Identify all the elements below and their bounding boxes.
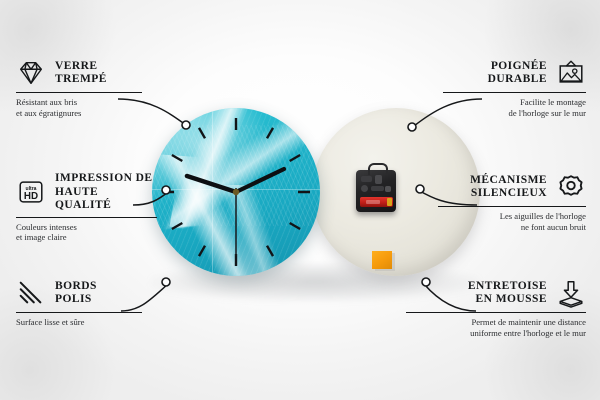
aa-battery	[360, 197, 393, 207]
feature-header: BORDS POLIS	[16, 278, 142, 308]
quartz-movement	[356, 170, 396, 212]
feature-subtitle: Facilite le montage de l'horloge sur le …	[443, 97, 586, 118]
feature-mecanisme-silencieux[interactable]: MÉCANISME SILENCIEUX Les aiguilles de l'…	[438, 172, 586, 232]
feature-subtitle: Résistant aux bris et aux égratignures	[16, 97, 142, 118]
hour-hand	[187, 176, 236, 192]
feature-rule	[406, 312, 586, 313]
feature-rule	[438, 206, 586, 207]
feature-impression-haute-qualite[interactable]: ultra HD IMPRESSION DE HAUTE QUALITÉ Cou…	[16, 172, 157, 243]
movement-detail	[361, 185, 368, 192]
feature-title: MÉCANISME SILENCIEUX	[438, 174, 547, 201]
foam-spacer-icon	[556, 278, 586, 308]
feature-header: ENTRETOISE EN MOUSSE	[406, 278, 586, 308]
movement-detail	[371, 186, 384, 191]
feature-verre-trempe[interactable]: VERRE TREMPÉ Résistant aux bris et aux é…	[16, 58, 142, 118]
movement-detail	[375, 175, 382, 184]
hands-hub	[233, 189, 239, 195]
feature-entretoise-en-mousse[interactable]: ENTRETOISE EN MOUSSE Permet de maintenir…	[406, 278, 586, 338]
foam-spacer	[372, 251, 392, 269]
battery-band	[366, 200, 380, 204]
feature-poignee-durable[interactable]: POIGNÉE DURABLE Facilite le montage de l…	[443, 58, 586, 118]
feature-header: MÉCANISME SILENCIEUX	[438, 172, 586, 202]
battery-terminal	[387, 198, 392, 206]
feature-title: POIGNÉE DURABLE	[443, 60, 547, 87]
infographic-canvas: VERRE TREMPÉ Résistant aux bris et aux é…	[0, 0, 600, 400]
feature-rule	[16, 92, 142, 93]
feature-header: POIGNÉE DURABLE	[443, 58, 586, 88]
feature-subtitle: Couleurs intenses et image claire	[16, 222, 157, 243]
picture-hanger-icon	[556, 58, 586, 88]
feature-title: BORDS POLIS	[55, 280, 97, 307]
movement-detail	[385, 186, 391, 192]
feature-title: VERRE TREMPÉ	[55, 60, 107, 87]
feature-rule	[16, 312, 142, 313]
feature-title: IMPRESSION DE HAUTE QUALITÉ	[55, 172, 157, 213]
clock-dial	[152, 108, 320, 276]
feature-rule	[443, 92, 586, 93]
svg-text:HD: HD	[24, 191, 38, 202]
clock-face-front	[152, 108, 320, 276]
feature-subtitle: Permet de maintenir une distance uniform…	[406, 317, 586, 338]
feature-header: VERRE TREMPÉ	[16, 58, 142, 88]
feature-subtitle: Les aiguilles de l'horloge ne font aucun…	[438, 211, 586, 232]
feature-subtitle: Surface lisse et sûre	[16, 317, 142, 327]
feature-title: ENTRETOISE EN MOUSSE	[406, 280, 547, 307]
feature-bords-polis[interactable]: BORDS POLIS Surface lisse et sûre	[16, 278, 142, 328]
hanger-loop-icon	[368, 163, 388, 175]
polished-edge-icon	[16, 278, 46, 308]
gear-icon	[556, 172, 586, 202]
feature-rule	[16, 217, 157, 218]
minute-hand	[236, 169, 284, 192]
ultra-hd-icon: ultra HD	[16, 177, 46, 207]
diamond-icon	[16, 58, 46, 88]
movement-detail	[361, 176, 372, 182]
feature-header: ultra HD IMPRESSION DE HAUTE QUALITÉ	[16, 172, 157, 213]
